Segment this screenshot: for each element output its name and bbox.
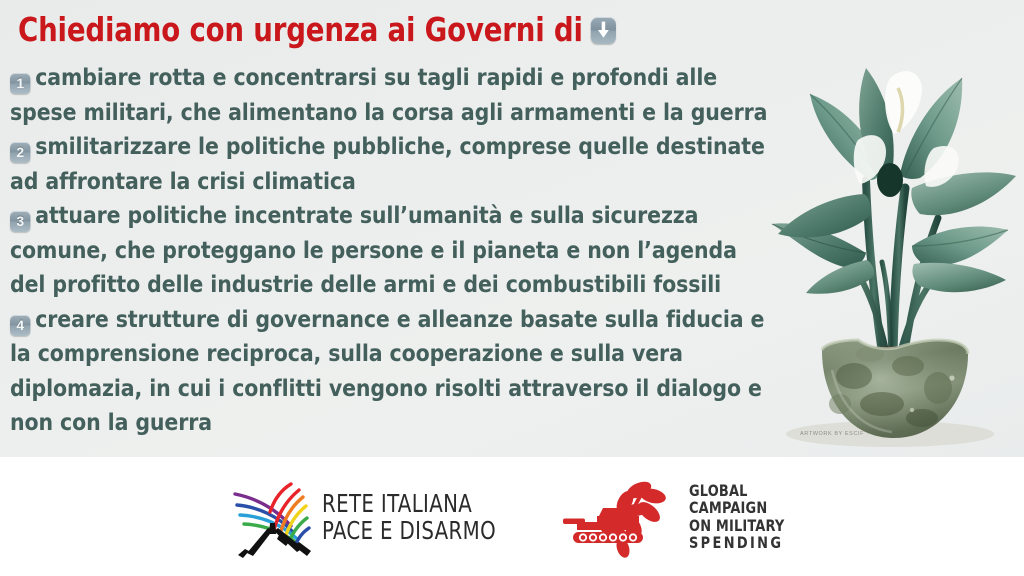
down-arrow-icon <box>591 17 616 44</box>
item-number-badge-2: 2 <box>10 142 30 163</box>
poster-root: Chiediamo con urgenza ai Governi di 1cam… <box>0 0 1024 576</box>
tank-olive-branch-icon <box>563 474 685 560</box>
list-item: 2smilitarizzare le politiche pubbliche, … <box>10 129 776 198</box>
page-title: Chiediamo con urgenza ai Governi di <box>18 10 725 50</box>
artwork-credit: ARTWORK BY ESCIF <box>800 431 864 437</box>
plant-in-helmet-illustration <box>762 48 1024 457</box>
item-text-1: cambiare rotta e concentrarsi su tagli r… <box>10 63 767 126</box>
item-number-badge-3: 3 <box>10 211 30 232</box>
logo-gcoms-line1: GLOBAL <box>689 481 748 500</box>
footer-logo-bar: RETE ITALIANA PACE E DISARMO <box>0 457 1024 576</box>
logo-ripd-wordmark: RETE ITALIANA PACE E DISARMO <box>322 490 496 544</box>
item-number-badge-1: 1 <box>10 73 30 94</box>
item-text-4: creare strutture di governance e alleanz… <box>10 305 764 437</box>
list-item: 4creare strutture di governance e allean… <box>10 302 776 440</box>
item-text-2: smilitarizzare le politiche pubbliche, c… <box>10 132 765 195</box>
logo-gcoms-wordmark: GLOBAL CAMPAIGN ON MILITARY SPENDING <box>689 482 784 552</box>
logo-ripd-line2: PACE E DISARMO <box>322 516 496 545</box>
logo-ripd-line1: RETE ITALIANA <box>322 489 472 518</box>
list-item: 1cambiare rotta e concentrarsi su tagli … <box>10 60 776 129</box>
demands-list: 1cambiare rotta e concentrarsi su tagli … <box>10 60 800 440</box>
list-item: 3attuare politiche incentrate sull’umani… <box>10 198 776 302</box>
item-number-badge-4: 4 <box>10 315 30 336</box>
logo-gcoms-line2: CAMPAIGN <box>689 498 767 517</box>
logo-global-campaign-on-military-spending[interactable]: GLOBAL CAMPAIGN ON MILITARY SPENDING <box>563 474 795 560</box>
item-text-3: attuare politiche incentrate sull’umanit… <box>10 201 737 298</box>
logo-gcoms-line4: SPENDING <box>689 533 783 552</box>
logo-gcoms-line3: ON MILITARY <box>689 516 784 535</box>
logo-rete-italiana-pace-e-disarmo[interactable]: RETE ITALIANA PACE E DISARMO <box>229 474 520 560</box>
main-content-panel: Chiediamo con urgenza ai Governi di 1cam… <box>0 0 1024 457</box>
page-title-text: Chiediamo con urgenza ai Governi di <box>18 10 583 50</box>
rainbow-peace-flag-broken-rifle-icon <box>229 474 313 560</box>
